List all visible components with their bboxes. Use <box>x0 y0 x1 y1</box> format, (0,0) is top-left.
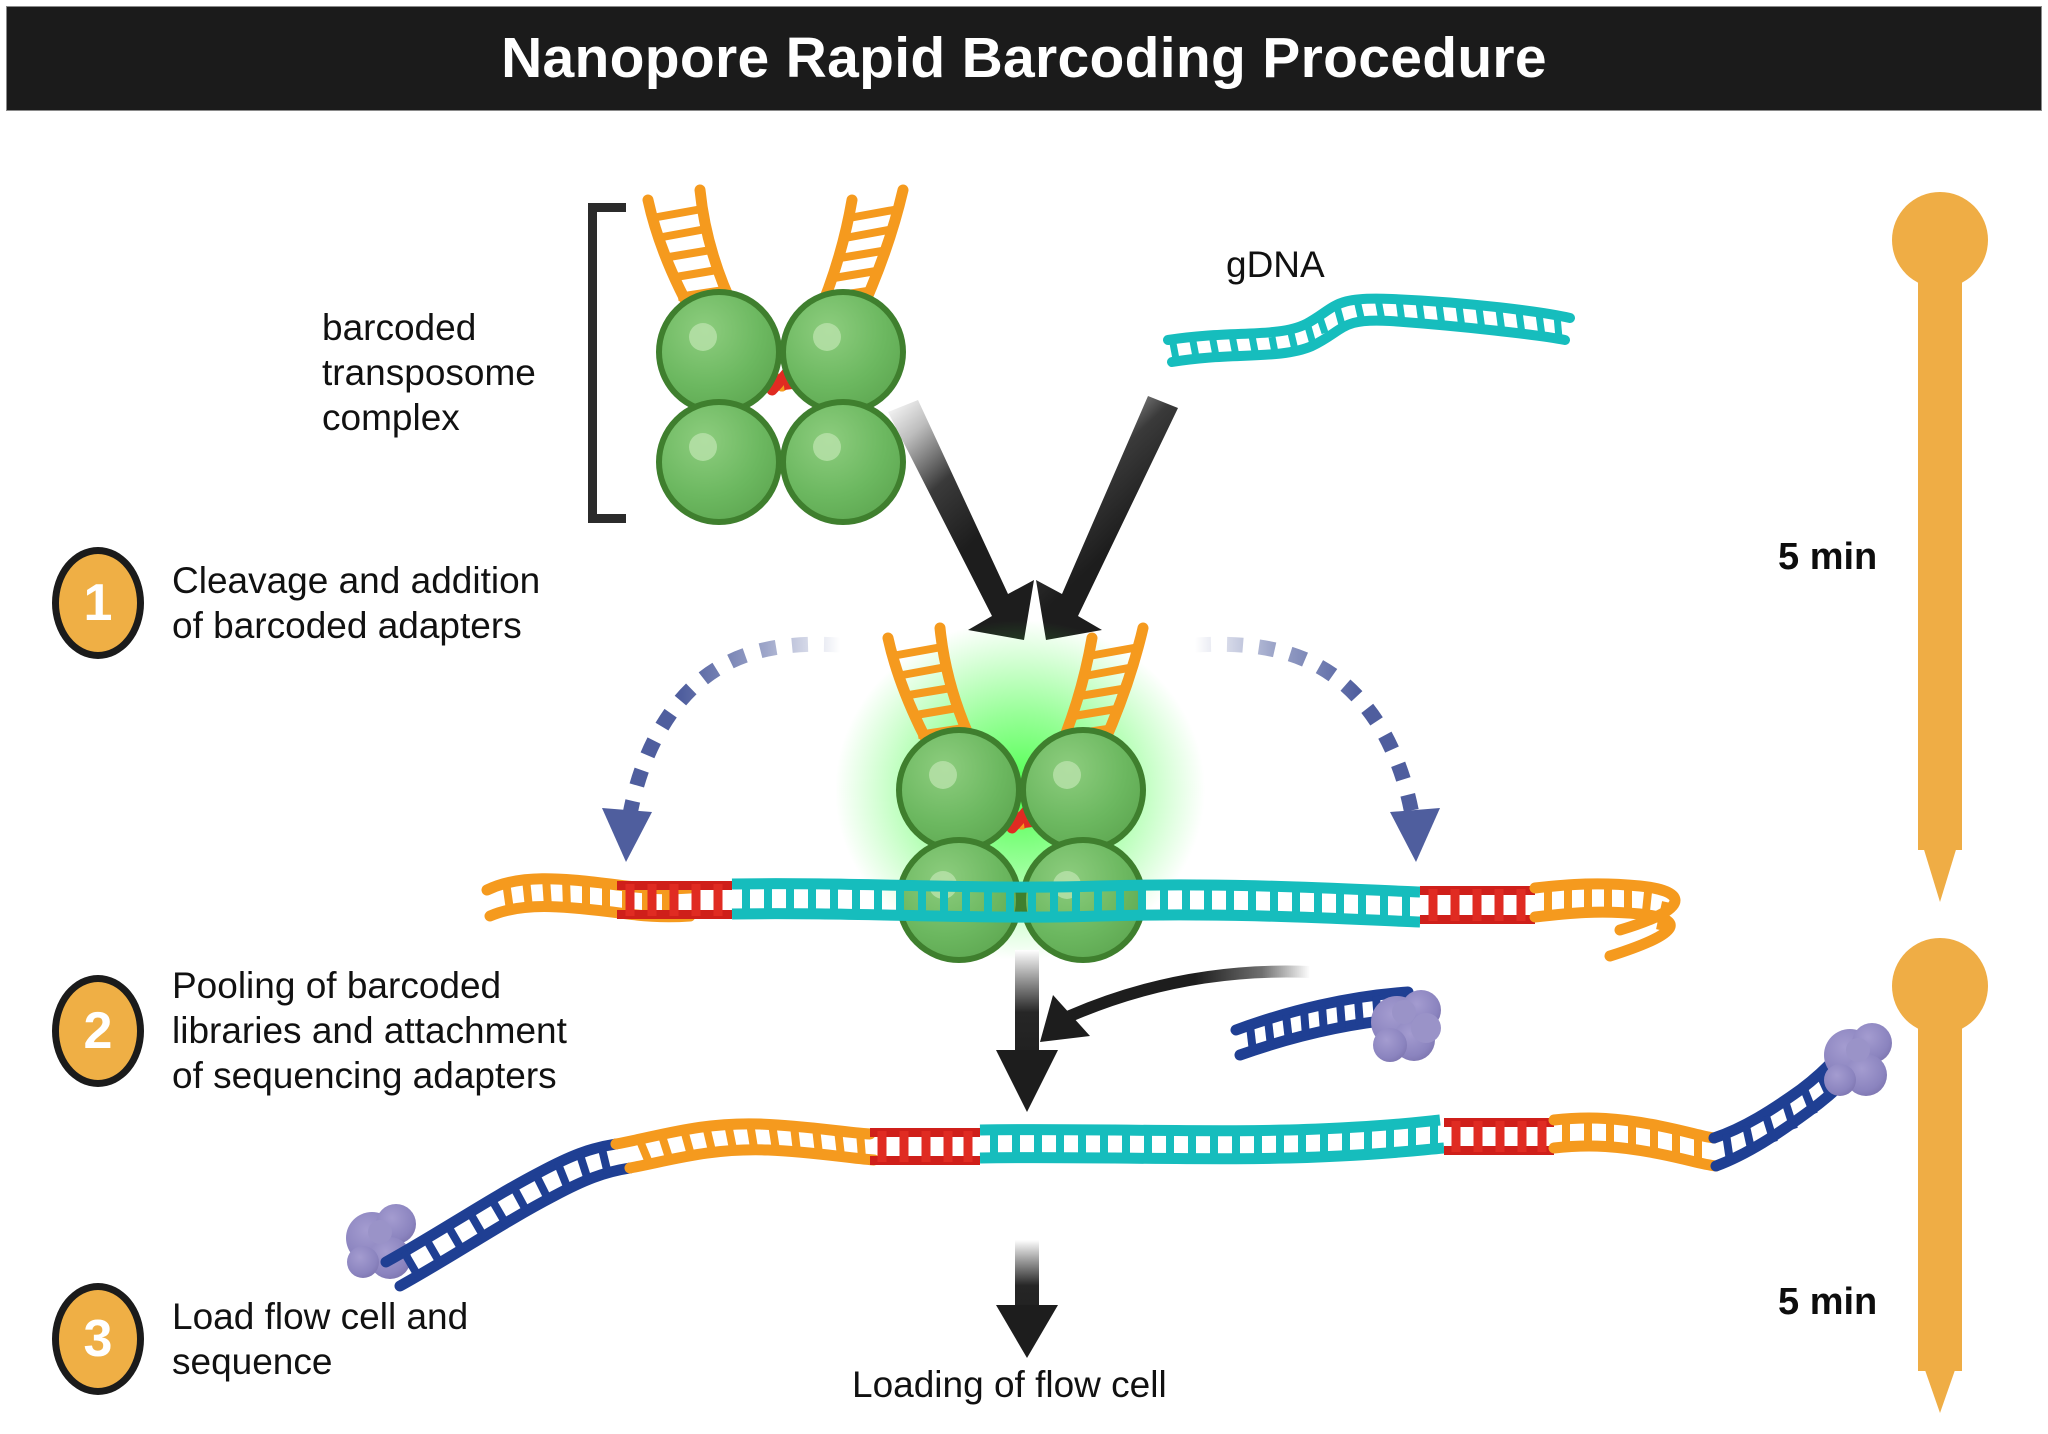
transposome-bracket <box>588 203 626 523</box>
dotted-arrow-right <box>1195 644 1440 862</box>
active-adapter-left <box>888 628 1022 828</box>
transposome-complex-label: barcoded transposome complex <box>322 305 582 440</box>
sequencing-adapter <box>1236 990 1441 1062</box>
transposome-adapter-left <box>648 190 782 390</box>
step-number-2: 2 <box>84 1005 113 1057</box>
active-bead-cluster <box>899 730 1143 960</box>
timeline-duration-1: 5 min <box>1778 538 1877 576</box>
step-label-2: Pooling of barcoded libraries and attach… <box>172 963 567 1098</box>
active-adapter-right <box>1012 628 1143 828</box>
loading-flow-cell-label: Loading of flow cell <box>852 1362 1167 1407</box>
step-row-3[interactable]: 3 Load flow cell and sequence <box>52 1283 468 1395</box>
timeline-duration-2: 5 min <box>1778 1283 1877 1321</box>
diagram-page: Nanopore Rapid Barcoding Procedure <box>0 0 2048 1434</box>
motor-protein-left-icon <box>346 1204 416 1279</box>
merge-arrow-right <box>1036 396 1178 640</box>
step-badge-3[interactable]: 3 <box>52 1283 144 1395</box>
step-badge-2[interactable]: 2 <box>52 975 144 1087</box>
step-label-3: Load flow cell and sequence <box>172 1294 468 1384</box>
step-row-1[interactable]: 1 Cleavage and addition of barcoded adap… <box>52 547 540 659</box>
step-number-3: 3 <box>84 1313 113 1365</box>
adapter-attach-curve-arrow <box>1040 972 1310 1042</box>
diagram-artwork <box>0 0 2048 1434</box>
step-number-1: 1 <box>84 577 113 629</box>
step-label-1: Cleavage and addition of barcoded adapte… <box>172 558 540 648</box>
active-transposome-glow <box>835 620 1205 960</box>
step-badge-1[interactable]: 1 <box>52 547 144 659</box>
step-row-2[interactable]: 2 Pooling of barcoded libraries and atta… <box>52 963 567 1098</box>
title-banner: Nanopore Rapid Barcoding Procedure <box>6 6 2042 111</box>
transposome-bead-cluster <box>659 292 903 522</box>
transposome-adapter-right <box>772 190 903 390</box>
gdna-label: gDNA <box>1226 242 1325 287</box>
step3-down-arrow <box>996 1240 1058 1358</box>
final-library-strand <box>346 1023 1892 1286</box>
gdna-strand <box>1168 299 1570 362</box>
barcoded-library-strand <box>487 878 1675 956</box>
dotted-arrow-left <box>602 644 840 862</box>
motor-protein-right-icon <box>1824 1023 1892 1096</box>
page-title: Nanopore Rapid Barcoding Procedure <box>501 30 1547 87</box>
step2-down-arrow <box>996 950 1058 1112</box>
timeline-pin-1 <box>1885 190 1995 910</box>
timeline-pin-2 <box>1885 938 1995 1418</box>
motor-protein-icon <box>1371 990 1441 1062</box>
merge-arrow-left <box>888 400 1034 640</box>
